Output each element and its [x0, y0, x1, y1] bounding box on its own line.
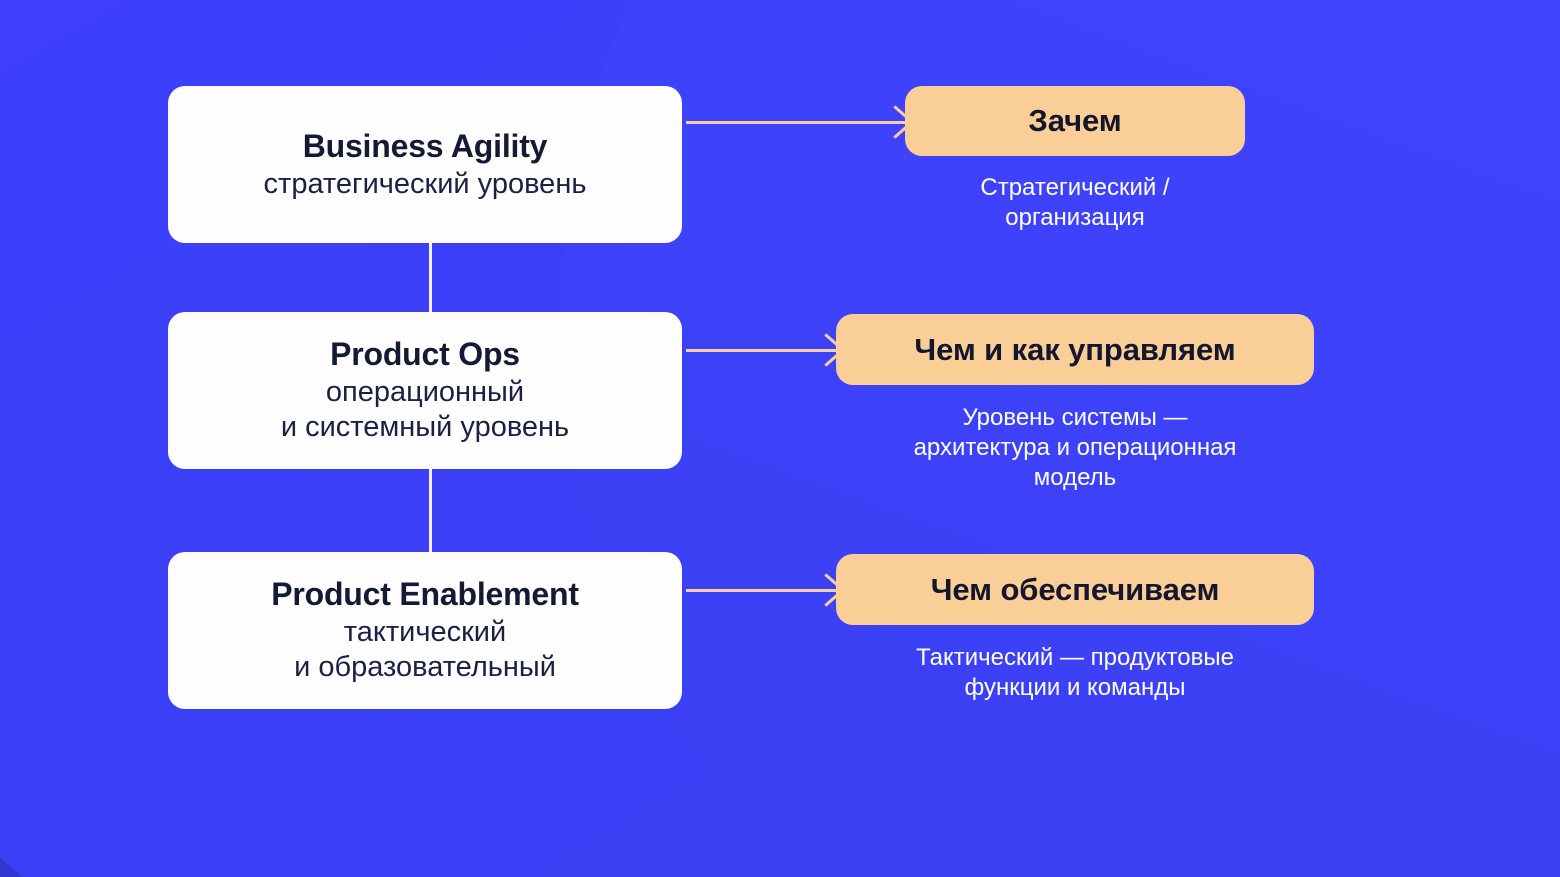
- question-badge-label: Зачем: [1028, 103, 1121, 139]
- arrow-row-2: [686, 341, 836, 359]
- caption-line: Стратегический /: [905, 173, 1245, 203]
- caption-row-3: Тактический — продуктовые функции и кома…: [836, 643, 1314, 703]
- arrow-line-icon: [686, 589, 836, 592]
- arrow-head-icon: [819, 341, 837, 359]
- level-card-product-enablement[interactable]: Product Enablement тактический и образов…: [168, 552, 682, 709]
- question-badge-label: Чем обеспечиваем: [931, 572, 1220, 608]
- question-badge-label: Чем и как управляем: [914, 332, 1235, 368]
- caption-row-1: Стратегический / организация: [905, 173, 1245, 233]
- level-card-subtitle-line: и системный уровень: [281, 410, 569, 445]
- level-card-title: Product Ops: [330, 336, 520, 373]
- diagram-canvas: Business Agility стратегический уровень …: [0, 0, 1560, 877]
- level-card-subtitle-line: стратегический уровень: [264, 167, 587, 202]
- diagram-content: Business Agility стратегический уровень …: [0, 0, 1560, 877]
- arrow-row-3: [686, 581, 836, 599]
- arrow-line-icon: [686, 121, 905, 124]
- question-badge-chem-obespechivaem[interactable]: Чем обеспечиваем: [836, 554, 1314, 625]
- caption-line: модель: [836, 463, 1314, 493]
- level-card-subtitle-line: тактический: [344, 615, 506, 650]
- caption-line: организация: [905, 203, 1245, 233]
- caption-line: архитектура и операционная: [836, 433, 1314, 463]
- caption-line: Тактический — продуктовые: [836, 643, 1314, 673]
- level-card-title: Product Enablement: [271, 576, 579, 613]
- connector-line-2-3: [429, 469, 432, 553]
- level-card-title: Business Agility: [303, 128, 548, 165]
- level-card-business-agility[interactable]: Business Agility стратегический уровень: [168, 86, 682, 243]
- arrow-line-icon: [686, 349, 836, 352]
- arrow-head-icon: [819, 581, 837, 599]
- connector-line-1-2: [429, 243, 432, 313]
- arrow-row-1: [686, 113, 905, 131]
- caption-line: функции и команды: [836, 673, 1314, 703]
- question-badge-zachem[interactable]: Зачем: [905, 86, 1245, 156]
- level-card-product-ops[interactable]: Product Ops операционный и системный уро…: [168, 312, 682, 469]
- level-card-subtitle-line: и образовательный: [294, 650, 556, 685]
- question-badge-chem-i-kak-upravlyaem[interactable]: Чем и как управляем: [836, 314, 1314, 385]
- arrow-head-icon: [888, 113, 906, 131]
- caption-line: Уровень системы —: [836, 403, 1314, 433]
- caption-row-2: Уровень системы — архитектура и операцио…: [836, 403, 1314, 493]
- level-card-subtitle-line: операционный: [326, 375, 524, 410]
